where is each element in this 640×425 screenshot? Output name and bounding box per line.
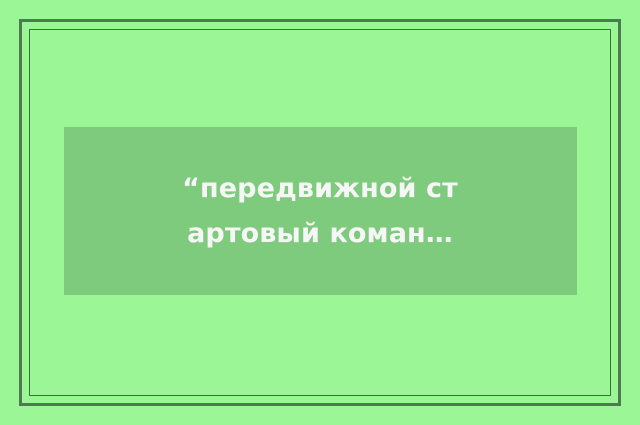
quote-text-block: “передвижной ст артовый коман… <box>0 127 640 295</box>
quote-card: “передвижной ст артовый коман… <box>0 0 640 425</box>
quote-line-1: “передвижной ст <box>0 166 640 211</box>
quote-line-2: артовый коман… <box>0 211 640 256</box>
